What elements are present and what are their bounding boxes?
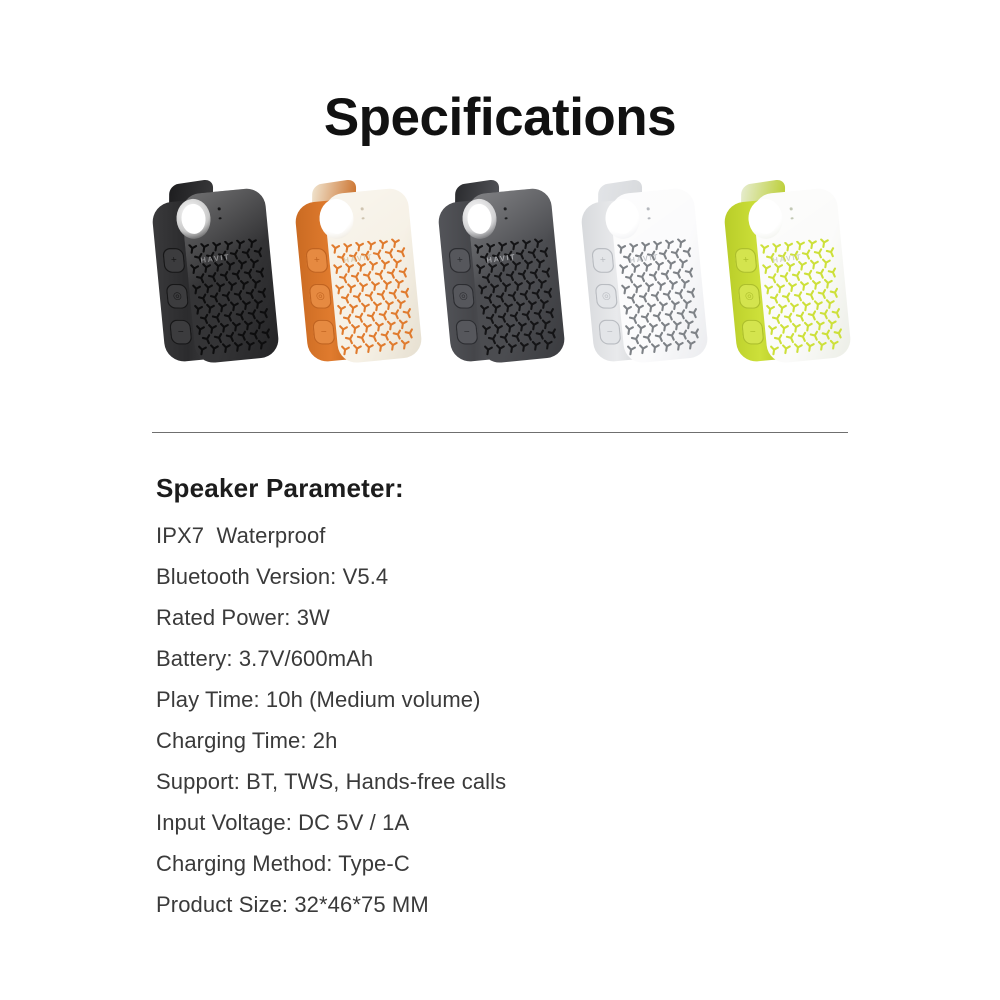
power-button[interactable]: ◎ xyxy=(309,284,333,309)
speaker-unit: +◎−HAVIT xyxy=(292,175,426,375)
power-button-glyph: ◎ xyxy=(738,284,762,309)
product-variant-orange[interactable]: +◎−HAVIT xyxy=(295,172,423,380)
power-button[interactable]: ◎ xyxy=(452,284,476,309)
indicator-dot xyxy=(790,207,793,210)
power-button[interactable]: ◎ xyxy=(738,284,762,309)
volume-down-button[interactable]: − xyxy=(312,320,336,345)
spec-line: Play Time: 10h (Medium volume) xyxy=(156,679,796,720)
volume-down-button-glyph: − xyxy=(455,320,479,345)
product-variant-lime-green[interactable]: +◎−HAVIT xyxy=(724,172,852,380)
light-ring-center xyxy=(323,203,350,235)
volume-down-button[interactable]: − xyxy=(598,320,622,345)
speaker-unit: +◎−HAVIT xyxy=(435,175,569,375)
spec-line: Charging Method: Type-C xyxy=(156,843,796,884)
indicator-dot xyxy=(218,217,221,220)
indicator-dot xyxy=(647,217,650,220)
power-button[interactable]: ◎ xyxy=(595,284,619,309)
section-divider xyxy=(152,432,848,433)
speaker-unit: +◎−HAVIT xyxy=(721,175,855,375)
specifications-heading: Speaker Parameter: xyxy=(156,473,796,504)
spec-line: Input Voltage: DC 5V / 1A xyxy=(156,802,796,843)
light-ring-center xyxy=(609,203,636,235)
volume-up-button-glyph: + xyxy=(591,248,615,273)
indicator-dot xyxy=(647,207,650,210)
spec-line: Product Size: 32*46*75 MM xyxy=(156,884,796,925)
speaker-unit: +◎−HAVIT xyxy=(578,175,712,375)
power-button-glyph: ◎ xyxy=(166,284,190,309)
spec-line: Bluetooth Version: V5.4 xyxy=(156,556,796,597)
power-button-glyph: ◎ xyxy=(595,284,619,309)
volume-up-button[interactable]: + xyxy=(448,248,472,273)
product-variant-black[interactable]: +◎−HAVIT xyxy=(152,172,280,380)
product-variant-white[interactable]: +◎−HAVIT xyxy=(581,172,709,380)
power-button-glyph: ◎ xyxy=(309,284,333,309)
volume-up-button-glyph: + xyxy=(162,248,186,273)
specifications-block: Speaker Parameter: IPX7 WaterproofBlueto… xyxy=(156,473,796,925)
indicator-dot xyxy=(218,207,221,210)
light-ring-center xyxy=(180,203,207,235)
speaker-unit: +◎−HAVIT xyxy=(149,175,283,375)
spec-line: Charging Time: 2h xyxy=(156,720,796,761)
light-ring-center xyxy=(466,203,493,235)
volume-up-button[interactable]: + xyxy=(734,248,758,273)
indicator-dot xyxy=(504,207,507,210)
product-gallery: +◎−HAVIT+◎−HAVIT+◎−HAVIT+◎−HAVIT+◎−HAVIT xyxy=(152,172,852,380)
indicator-dot xyxy=(504,217,507,220)
volume-down-button[interactable]: − xyxy=(455,320,479,345)
page-title: Specifications xyxy=(0,91,1000,144)
indicator-dot xyxy=(361,217,364,220)
light-ring-center xyxy=(752,203,779,235)
volume-up-button-glyph: + xyxy=(448,248,472,273)
indicator-dot xyxy=(361,207,364,210)
volume-up-button[interactable]: + xyxy=(305,248,329,273)
spec-line: IPX7 Waterproof xyxy=(156,515,796,556)
volume-up-button[interactable]: + xyxy=(162,248,186,273)
volume-up-button[interactable]: + xyxy=(591,248,615,273)
volume-down-button[interactable]: − xyxy=(169,320,193,345)
spec-line: Support: BT, TWS, Hands-free calls xyxy=(156,761,796,802)
product-variant-dark-grey[interactable]: +◎−HAVIT xyxy=(438,172,566,380)
volume-down-button[interactable]: − xyxy=(741,320,765,345)
volume-down-button-glyph: − xyxy=(169,320,193,345)
power-button[interactable]: ◎ xyxy=(166,284,190,309)
power-button-glyph: ◎ xyxy=(452,284,476,309)
volume-down-button-glyph: − xyxy=(312,320,336,345)
spec-line: Rated Power: 3W xyxy=(156,597,796,638)
volume-up-button-glyph: + xyxy=(305,248,329,273)
specifications-list: IPX7 WaterproofBluetooth Version: V5.4Ra… xyxy=(156,515,796,925)
spec-line: Battery: 3.7V/600mAh xyxy=(156,638,796,679)
volume-down-button-glyph: − xyxy=(598,320,622,345)
volume-down-button-glyph: − xyxy=(741,320,765,345)
indicator-dot xyxy=(790,217,793,220)
volume-up-button-glyph: + xyxy=(734,248,758,273)
